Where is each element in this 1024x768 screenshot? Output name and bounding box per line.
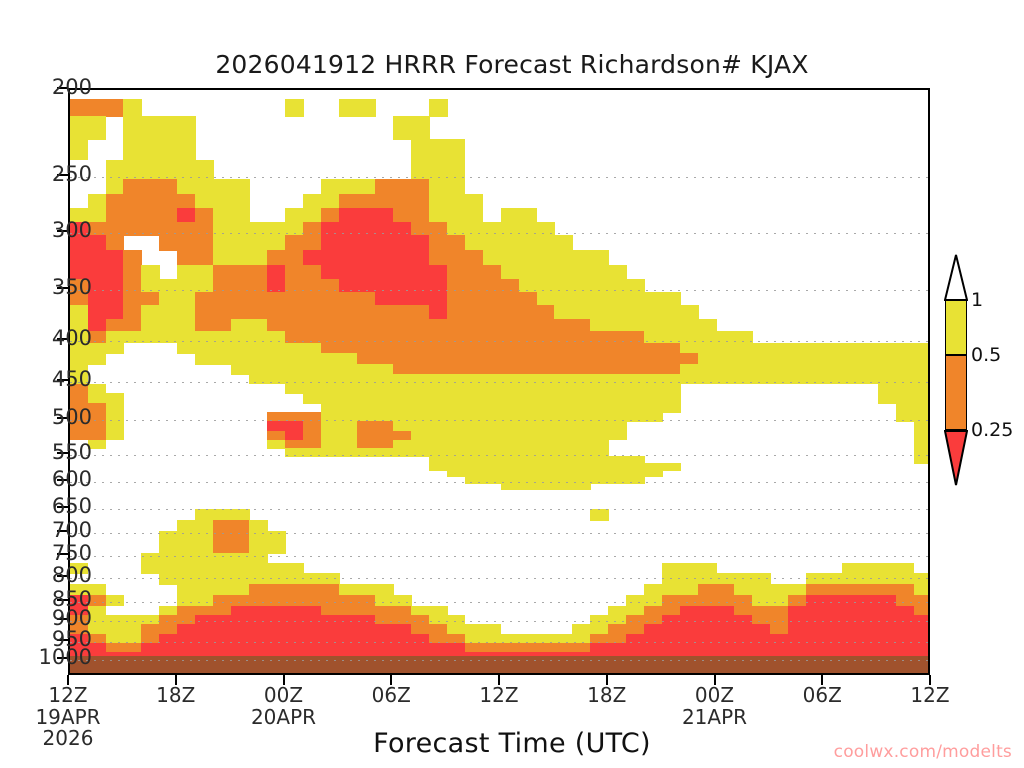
heatmap-cell [608,292,627,306]
heatmap-cell [231,235,250,251]
heatmap-cell [662,463,681,471]
heatmap-cell [501,208,520,222]
heatmap-cell [177,520,196,532]
heatmap-cell [285,208,304,222]
heatmap-cell [123,305,142,319]
heatmap-cell [88,250,107,266]
heatmap-cell [321,179,340,194]
heatmap-cell [231,179,250,194]
heatmap-cell [393,208,412,222]
heatmap-cell [626,292,645,306]
heatmap-cell [106,319,125,332]
heatmap-cell [411,265,430,279]
heatmap-cell [447,139,466,161]
heatmap-cell [106,99,125,117]
heatmap-cell [393,292,412,306]
heatmap-cell [537,292,556,306]
heatmap-cell [70,116,89,139]
heatmap-cell [231,265,250,279]
heatmap-cell [267,319,286,332]
heatmap-cell [375,235,394,251]
heatmap-cell [231,250,250,266]
heatmap-cell [267,292,286,306]
gridline-horizontal [70,509,928,510]
heatmap-cell [195,292,214,306]
heatmap-cell [554,292,573,306]
heatmap-cell [554,250,573,266]
colorbar-tick-label: 1 [971,289,983,311]
heatmap-cell [213,194,232,209]
gridline-horizontal [70,233,928,234]
heatmap-cell [501,292,520,306]
heatmap-cell [159,139,178,161]
plot-area [68,88,930,675]
heatmap-cell [465,194,484,209]
heatmap-cell [177,235,196,251]
heatmap-cell [357,292,376,306]
heatmap-cell [249,235,268,251]
heatmap-cell [285,265,304,279]
heatmap-cell [519,265,538,279]
heatmap-cell [447,265,466,279]
gridline-horizontal [70,621,928,622]
heatmap-cell [213,319,232,332]
heatmap-cell [106,194,125,209]
heatmap-cell [70,139,89,161]
heatmap-cell [429,292,448,306]
heatmap-cell [231,364,250,375]
heatmap-cell [680,584,699,596]
heatmap-cell [106,343,125,354]
heatmap-cell [411,179,430,194]
heatmap-cell [429,194,448,209]
heatmap-cell [393,319,412,332]
heatmap-cell [159,573,178,585]
heatmap-cell [339,292,358,306]
y-tick-label: 900 [0,608,92,629]
heatmap-cell [572,250,591,266]
heatmap-cell [88,116,107,139]
heatmap-cell [123,319,142,332]
heatmap-cell [680,319,699,332]
heatmap-cell [339,250,358,266]
heatmap-cell [501,483,520,490]
heatmap-cell [572,305,591,319]
chart-title: 2026041912 HRRR Forecast Richardson# KJA… [0,50,1024,79]
heatmap-cell [465,305,484,319]
heatmap-cell [411,116,430,139]
heatmap-cell [411,139,430,161]
gridline-horizontal [70,642,928,643]
heatmap-cell [375,319,394,332]
heatmap-cell [357,179,376,194]
heatmap-cell [608,305,627,319]
heatmap-cell [195,250,214,266]
heatmap-cell [519,208,538,222]
heatmap-cell [249,520,268,532]
heatmap-cell [590,509,609,521]
heatmap-cell [662,584,681,596]
heatmap-cell [213,179,232,194]
y-tick-label: 750 [0,543,92,564]
heatmap-cell [177,319,196,332]
heatmap-cell [411,319,430,332]
heatmap-cell [447,235,466,251]
heatmap-cell [698,319,717,332]
heatmap-cell [159,194,178,209]
gridline-horizontal [70,177,928,178]
heatmap-cell [393,116,412,139]
heatmap-cell [590,305,609,319]
heatmap-cell [501,250,520,266]
heatmap-cell [411,194,430,209]
colorbar-tick-label: 0.25 [971,419,1013,441]
heatmap-cell [770,584,789,596]
heatmap-cell [123,292,142,306]
heatmap-cell [177,116,196,139]
heatmap-cell [231,194,250,209]
heatmap-cell [375,194,394,209]
heatmap-cell [411,250,430,266]
gridline-horizontal [70,578,928,579]
heatmap-cell [231,584,250,596]
heatmap-cell [752,584,771,596]
heatmap-cell [70,250,89,266]
heatmap-cell [914,584,930,596]
x-tick-label: 12Z [860,685,1000,707]
heatmap-cell [554,319,573,332]
heatmap-cell [393,235,412,251]
heatmap-cell [375,250,394,266]
gridline-horizontal [70,660,928,661]
y-tick-label: 1000 [0,647,92,668]
heatmap-cell [483,250,502,266]
heatmap-cell [519,250,538,266]
heatmap-cell [195,305,214,319]
heatmap-cell [285,235,304,251]
heatmap-cell [177,343,196,354]
heatmap-cell [231,319,250,332]
heatmap-cell [662,403,681,413]
heatmap-cell [429,319,448,332]
heatmap-cell [698,584,717,596]
heatmap-cell [285,250,304,266]
heatmap-cell [141,194,160,209]
heatmap-cell [393,194,412,209]
heatmap-cell [429,463,448,471]
heatmap-cell [590,292,609,306]
heatmap-cell [375,292,394,306]
heatmap-cell [141,139,160,161]
heatmap-cell [303,319,322,332]
heatmap-cell [231,305,250,319]
heatmap-cell [519,305,538,319]
y-tick-label: 600 [0,469,92,490]
heatmap-cell [267,265,286,279]
heatmap-cell [716,584,735,596]
heatmap-cell [213,292,232,306]
heatmap-cell [249,250,268,266]
gridline-horizontal [70,455,928,456]
heatmap-cell [141,116,160,139]
y-tick-label: 400 [0,328,92,349]
heatmap-cell [303,584,322,596]
heatmap-cell [357,319,376,332]
y-tick-label: 450 [0,369,92,390]
heatmap-cell [411,208,430,222]
heatmap-cell [285,319,304,332]
heatmap-cell [123,265,142,279]
heatmap-cell [195,520,214,532]
heatmap-cell [141,179,160,194]
heatmap-cell [123,116,142,139]
heatmap-cell [339,265,358,279]
heatmap-cell [159,292,178,306]
heatmap-cell [357,208,376,222]
heatmap-cell [339,194,358,209]
heatmap-cell [249,319,268,332]
gridline-horizontal [70,482,928,483]
heatmap-cell [70,99,89,117]
heatmap-cell [519,319,538,332]
heatmap-cell [267,305,286,319]
heatmap-cell [88,194,107,209]
y-tick-label: 350 [0,277,92,298]
y-tick-label: 500 [0,407,92,428]
heatmap-cell [519,483,538,490]
heatmap-cell [267,440,286,449]
heatmap-cell [159,116,178,139]
heatmap-cell [339,179,358,194]
heatmap-cell [393,265,412,279]
y-tick-label: 200 [0,77,92,98]
heatmap-cell [483,305,502,319]
heatmap-cell [123,250,142,266]
heatmap-cell [321,305,340,319]
heatmap-cell [357,235,376,251]
gridline-horizontal [70,341,928,342]
heatmap-cell [159,319,178,332]
heatmap-cell [914,456,930,464]
heatmap-cell [88,99,107,117]
heatmap-cell [878,584,897,596]
y-tick-label: 650 [0,496,92,517]
heatmap-cell [321,319,340,332]
heatmap-cell [537,483,556,490]
heatmap-cell [159,235,178,251]
heatmap-cell [357,99,376,117]
heatmap-cell [572,319,591,332]
heatmap-cell [106,292,125,306]
heatmap-cell [195,353,214,364]
heatmap-cell [321,194,340,209]
heatmap-cell [447,250,466,266]
heatmap-cell [554,265,573,279]
heatmap-cell [88,305,107,319]
heatmap-cell [70,305,89,319]
heatmap-cell [537,319,556,332]
heatmap-cell [177,584,196,596]
heatmap-cell [303,305,322,319]
heatmap-cell [106,305,125,319]
heatmap-cell [608,319,627,332]
heatmap-cell [357,305,376,319]
colorbar-cap-above-outline [944,253,968,301]
heatmap-cell [213,235,232,251]
heatmap-cell [267,235,286,251]
heatmap-cell [429,265,448,279]
heatmap-cell [267,584,286,596]
heatmap-cell [321,250,340,266]
heatmap-cell [123,208,142,222]
heatmap-cell [501,319,520,332]
heatmap-cell [590,265,609,279]
heatmap-cell [123,179,142,194]
heatmap-cell [537,235,556,251]
heatmap-cell [141,208,160,222]
heatmap-cell [303,292,322,306]
heatmap-cell [644,292,663,306]
heatmap-cell [357,265,376,279]
heatmap-cell [141,265,160,279]
heatmap-cell [231,509,250,521]
heatmap-cell [411,305,430,319]
heatmap-cell [106,265,125,279]
y-tick-label: 700 [0,520,92,541]
heatmap-cell [483,235,502,251]
heatmap-cell [195,584,214,596]
heatmap-cell [285,584,304,596]
heatmap-cell [213,208,232,222]
heatmap-cell [303,235,322,251]
gridline-horizontal [70,602,928,603]
heatmap-cell [734,584,753,596]
heatmap-cell [357,584,376,596]
heatmap-cell [249,292,268,306]
heatmap-cell [644,584,663,596]
heatmap-cell [393,250,412,266]
heatmap-cell [213,353,232,364]
heatmap-cell [662,319,681,332]
heatmap-cell [213,584,232,596]
heatmap-cell [285,99,304,117]
heatmap-cell [177,265,196,279]
heatmap-cell [590,319,609,332]
heatmap-cell [177,250,196,266]
heatmap-cell [501,305,520,319]
heatmap-cell [572,265,591,279]
heatmap-cell [465,235,484,251]
heatmap-cell [195,265,214,279]
y-tick-label: 550 [0,442,92,463]
heatmap-cell [411,292,430,306]
heatmap-cell [141,305,160,319]
heatmap-cell [429,250,448,266]
heatmap-cell [357,194,376,209]
heatmap-cell [339,208,358,222]
heatmap-cell [788,584,807,596]
heatmap-cell [321,235,340,251]
heatmap-cell [231,292,250,306]
heatmap-cell [213,509,232,521]
colorbar-cap-below [944,429,968,487]
heatmap-cell [106,431,125,441]
watermark: coolwx.com/modelts [834,742,1012,762]
heatmap-cell [429,139,448,161]
heatmap-cell [447,292,466,306]
heatmap-cell [878,393,897,404]
heatmap-cell [195,319,214,332]
heatmap-cell [106,595,125,606]
heatmap-cell [447,319,466,332]
heatmap-cell [177,194,196,209]
heatmap-cell [267,250,286,266]
heatmap-cell [357,250,376,266]
heatmap-cell [824,584,843,596]
heatmap-cell [590,250,609,266]
heatmap-cell [554,305,573,319]
heatmap-cell [321,208,340,222]
heatmap-cell [195,208,214,222]
heatmap-cell [608,431,627,441]
heatmap-cell [375,208,394,222]
heatmap-cell [680,305,699,319]
heatmap-cell [465,250,484,266]
heatmap-cell [393,179,412,194]
heatmap-cell [644,470,663,477]
heatmap-cell [213,305,232,319]
heatmap-cell [644,319,663,332]
heatmap-cell [177,305,196,319]
heatmap-cell [321,584,340,596]
heatmap-cell [339,235,358,251]
heatmap-cell [429,305,448,319]
heatmap-cell [896,584,915,596]
heatmap-cell [339,99,358,117]
heatmap-cell [554,483,573,490]
heatmap-cell [375,305,394,319]
heatmap-cell [141,292,160,306]
heatmap-cell [106,179,125,194]
heatmap-cell [626,319,645,332]
heatmap-cell [177,139,196,161]
heatmap-cell [339,584,358,596]
heatmap-cell [123,99,142,117]
heatmap-cell [375,179,394,194]
heatmap-cell [447,179,466,194]
heatmap-cell [285,384,304,395]
heatmap-cell [644,305,663,319]
heatmap-cell [303,250,322,266]
gridline-horizontal [70,382,928,383]
heatmap-cell [429,179,448,194]
heatmap-cell [195,179,214,194]
heatmap-cell [447,208,466,222]
gridline-horizontal [70,533,928,534]
heatmap-cell [483,292,502,306]
heatmap-cell [303,265,322,279]
heatmap-cell [465,208,484,222]
heatmap-cell [106,250,125,266]
heatmap-cell [213,250,232,266]
heatmap-cell [141,319,160,332]
heatmap-cell [303,208,322,222]
heatmap-cell [106,235,125,251]
heatmap-cell [501,235,520,251]
heatmap-cell [195,235,214,251]
heatmap-cell [572,292,591,306]
heatmap-cell [339,305,358,319]
